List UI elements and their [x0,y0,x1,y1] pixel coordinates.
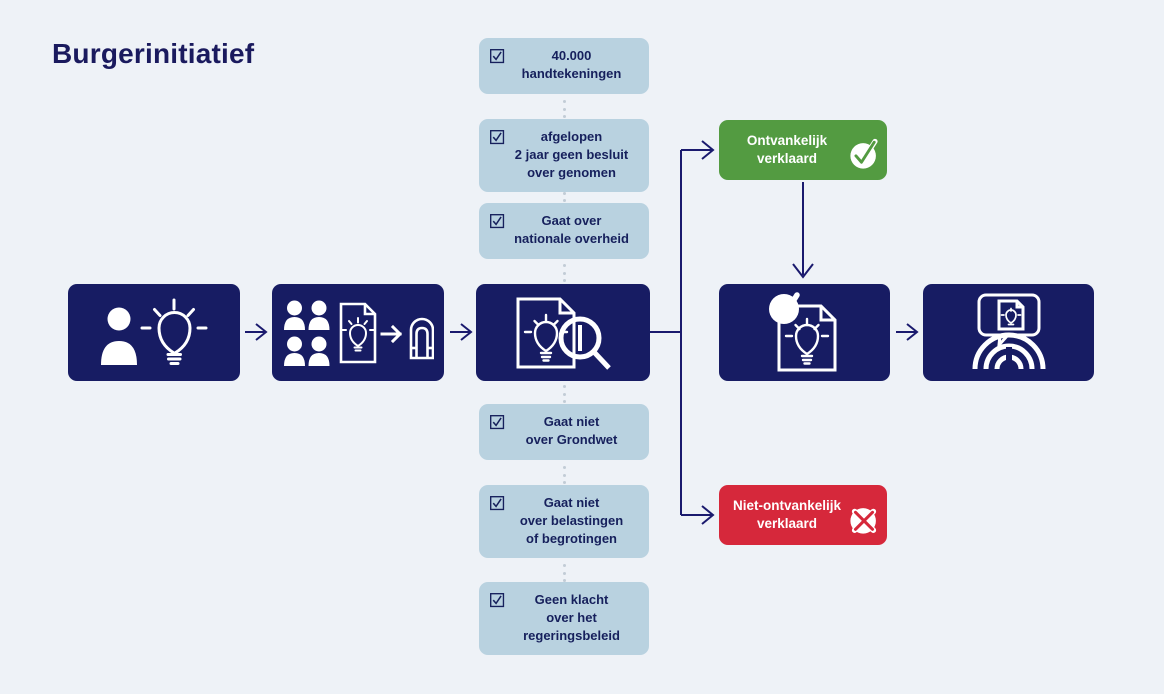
arrow-stage2-stage3 [450,324,471,340]
criteria-box-not-constitution[interactable]: Gaat niet over Grondwet [479,404,649,460]
dotted-connector-5 [559,466,569,484]
speech-bubble-document-parliament-icon [955,291,1063,375]
circle-check-icon [847,138,881,172]
checkbox-checked-icon[interactable] [489,592,506,609]
criteria-label: Gaat niet over belastingen of begrotinge… [506,494,639,547]
document-lightbulb-magnifier-icon [510,293,616,373]
stage-box-citizen-idea[interactable] [68,284,240,381]
stage-box-debate-in-parliament[interactable] [923,284,1094,381]
criteria-label: 40.000 handtekeningen [506,47,639,83]
arrow-stage1-stage2 [245,324,266,340]
criteria-label: Gaat over nationale overheid [506,212,639,248]
checkbox-checked-icon[interactable] [489,414,506,431]
outcome-box-accepted[interactable]: Ontvankelijk verklaard [719,120,887,180]
criteria-box-not-taxes-budgets[interactable]: Gaat niet over belastingen of begrotinge… [479,485,649,558]
page-title: Burgerinitiatief [52,38,254,70]
outcome-box-rejected[interactable]: Niet-ontvankelijk verklaard [719,485,887,545]
stage-box-collect-signatures[interactable] [272,284,444,381]
person-lightbulb-icon [90,297,218,369]
criteria-label: Geen klacht over het regeringsbeleid [506,591,639,644]
dotted-connector-6 [559,564,569,582]
criteria-box-no-complaint-policy[interactable]: Geen klacht over het regeringsbeleid [479,582,649,655]
document-lightbulb-check-icon [757,292,853,374]
criteria-box-signatures[interactable]: 40.000 handtekeningen [479,38,649,94]
criteria-label: afgelopen 2 jaar geen besluit over genom… [506,128,639,181]
checkbox-checked-icon[interactable] [489,495,506,512]
criteria-box-no-decision-2-years[interactable]: afgelopen 2 jaar geen besluit over genom… [479,119,649,192]
dotted-connector-3 [559,264,569,282]
stage-box-assessment[interactable] [476,284,650,381]
criteria-box-national-government[interactable]: Gaat over nationale overheid [479,203,649,259]
group-document-arrow-chair-icon [282,296,434,370]
criteria-label: Gaat niet over Grondwet [506,413,639,449]
outcome-label-rejected: Niet-ontvankelijk verklaard [729,497,845,533]
arrow-stage4-stage5 [896,324,917,340]
circle-cross-icon [847,503,881,537]
checkbox-checked-icon[interactable] [489,213,506,230]
dotted-connector-4 [559,385,569,403]
dotted-connector-1 [559,100,569,118]
stage-box-approved-initiative[interactable] [719,284,890,381]
arrow-accepted-to-approved [793,182,813,277]
outcome-label-accepted: Ontvankelijk verklaard [729,132,845,168]
branch-connector [650,141,713,524]
checkbox-checked-icon[interactable] [489,129,506,146]
checkbox-checked-icon[interactable] [489,48,506,65]
diagram-canvas: Burgerinitiatief [0,0,1164,694]
